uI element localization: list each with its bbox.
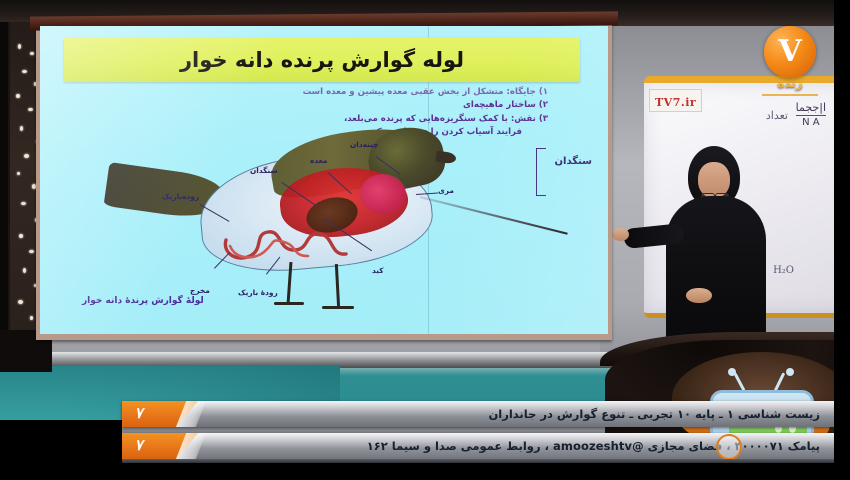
presenter [652, 140, 782, 355]
ticker-bar-primary: زیست شناسی ۱ ـ پایه ۱۰ تجربی ـ تنوع گوار… [122, 401, 834, 427]
diagram-label: چینه‌دان [350, 140, 378, 149]
channel-watermark: TV7.ir [649, 89, 702, 112]
diagram-label: مری [438, 186, 454, 195]
presenter-face [698, 162, 730, 198]
presenter-hand-pointing [612, 228, 629, 241]
brace-bracket [536, 148, 546, 196]
whiteboard-formula-denominator: N A [796, 117, 826, 128]
page-title: لوله گوارش پرنده دانه خوار [180, 48, 464, 72]
diagram-label: روده‌باریک [162, 192, 199, 201]
bird-foot [274, 302, 304, 305]
ticker-ring-icon [716, 434, 742, 460]
diagram-label: رودهٔ باریک [238, 288, 278, 297]
slide-title-band: لوله گوارش پرنده دانه خوار [64, 38, 580, 82]
live-badge-letter: V [764, 26, 816, 78]
presenter-hand-resting [686, 288, 712, 303]
bird-leg [335, 264, 340, 308]
bird-crop-organ [360, 174, 406, 214]
diagram-label: مخرج [190, 286, 210, 295]
presenter-body [666, 196, 766, 346]
live-badge-label: زنده [758, 76, 822, 90]
ticker-text-primary: زیست شناسی ۱ ـ پایه ۱۰ تجربی ـ تنوع گوار… [122, 407, 834, 421]
whiteboard-formula-numerator: ا|ججما [796, 101, 826, 114]
presentation-slide: لوله گوارش پرنده دانه خوار سنگدان ۱) جای… [40, 26, 608, 334]
slide-note-line: ۲) ساختار ماهیچه‌ای [248, 99, 548, 112]
diagram-label: سنگدان [250, 166, 278, 175]
bird-anatomy-diagram: چینه‌دان معده سنگدان مری روده‌باریک کبد … [110, 122, 530, 322]
slide-note-line: ۱) جایگاه: متشکل از بخش عقبی معده پیشین … [248, 86, 548, 99]
diagram-label: معده [310, 156, 327, 165]
letterbox-bottom [0, 463, 850, 480]
whiteboard-formula: ا|ججما N A [796, 101, 826, 128]
bird-intestine-coils [220, 216, 370, 268]
letterbox-right [834, 0, 850, 480]
live-badge: V زنده [758, 26, 822, 94]
live-badge-underline [762, 94, 818, 96]
live-badge-circle: V [764, 26, 816, 78]
channel-watermark-label: TV7.ir [655, 96, 696, 109]
diagram-caption: لولهٔ گوارش پرندهٔ دانه خوار [82, 296, 204, 306]
brace-label: سنگدان [555, 156, 592, 167]
broadcast-screenshot: ا|ججما N A تعداد سیاری H₂O ⌐ TV7.ir آموز… [0, 0, 850, 480]
whiteboard-note-count: تعداد [766, 109, 788, 122]
diagram-label: کبد [372, 266, 384, 275]
bird-foot [322, 306, 354, 309]
